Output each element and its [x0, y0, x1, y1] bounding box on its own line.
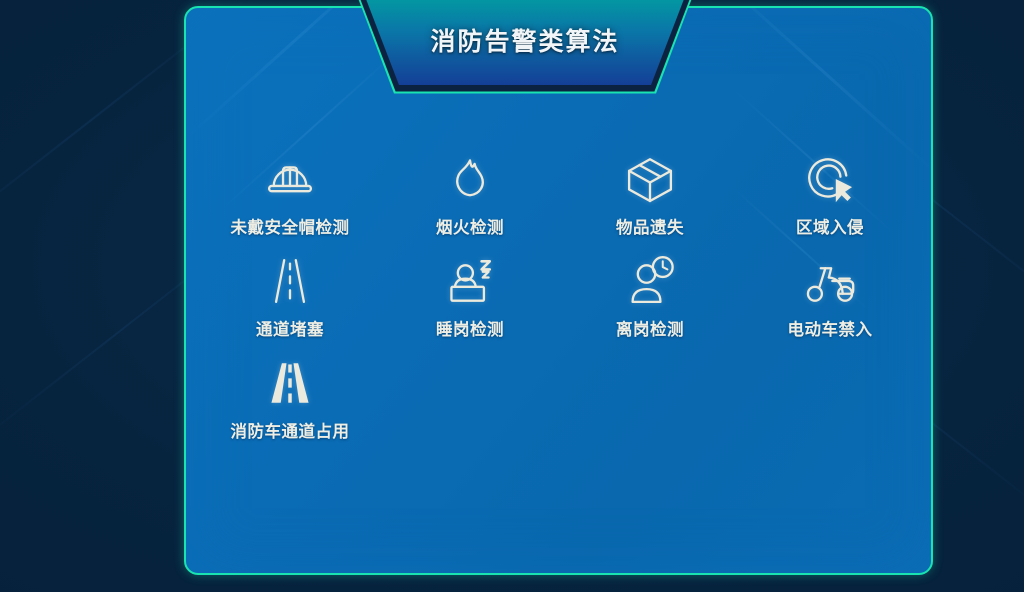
- algo-label: 区域入侵: [796, 214, 864, 238]
- algo-item-off-duty[interactable]: 离岗检测: [560, 252, 740, 352]
- algo-label: 通道堵塞: [256, 316, 324, 340]
- panel-sheen: [709, 6, 933, 171]
- algo-item-fire-lane-occupied[interactable]: 消防车通道占用: [200, 354, 380, 454]
- panel-title-text: 消防告警类算法: [355, 22, 695, 58]
- algo-item-no-ebike[interactable]: 电动车禁入: [740, 252, 920, 352]
- algo-item-passage-blocked[interactable]: 通道堵塞: [200, 252, 380, 352]
- area-intrusion-cursor-icon: [801, 150, 859, 208]
- algo-label: 睡岗检测: [436, 316, 504, 340]
- road-outline-icon: [261, 252, 319, 310]
- algo-label: 消防车通道占用: [231, 418, 350, 442]
- algo-item-lost-item[interactable]: 物品遗失: [560, 150, 740, 250]
- flame-icon: [441, 150, 499, 208]
- panel-title-banner: 消防告警类算法: [355, 0, 695, 102]
- algo-label: 未戴安全帽检测: [231, 214, 350, 238]
- sleeping-at-desk-icon: [441, 252, 499, 310]
- scooter-icon: [801, 252, 859, 310]
- page-background: 未戴安全帽检测 烟火检测: [0, 0, 1024, 592]
- algo-item-sleeping-on-duty[interactable]: 睡岗检测: [380, 252, 560, 352]
- algo-item-area-intrusion[interactable]: 区域入侵: [740, 150, 920, 250]
- algo-label: 物品遗失: [616, 214, 684, 238]
- road-filled-icon: [261, 354, 319, 412]
- algo-label: 烟火检测: [436, 214, 504, 238]
- person-clock-icon: [621, 252, 679, 310]
- algo-label: 电动车禁入: [788, 316, 873, 340]
- algo-item-flame[interactable]: 烟火检测: [380, 150, 560, 250]
- hard-hat-icon: [261, 150, 319, 208]
- algo-label: 离岗检测: [616, 316, 684, 340]
- algo-item-hard-hat[interactable]: 未戴安全帽检测: [200, 150, 380, 250]
- algorithm-grid: 未戴安全帽检测 烟火检测: [200, 150, 920, 454]
- box-icon: [621, 150, 679, 208]
